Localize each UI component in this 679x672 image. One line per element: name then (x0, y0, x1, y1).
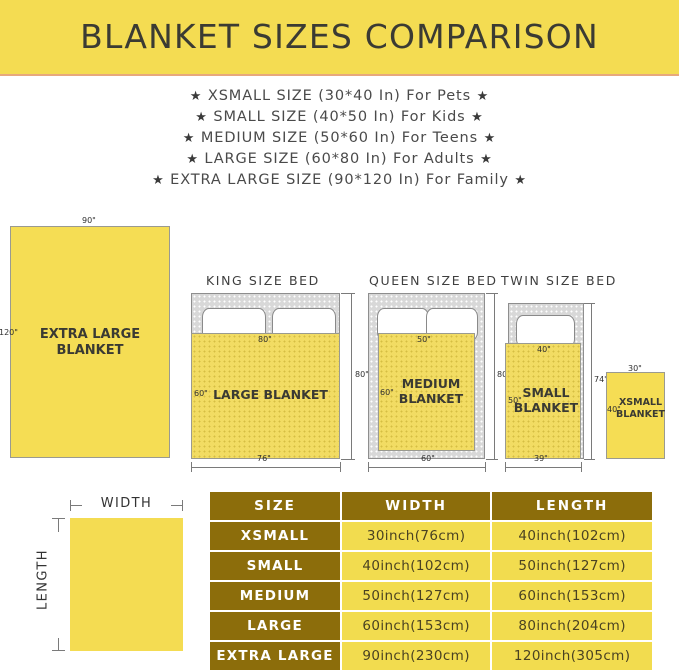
table-cell-width: 30inch(76cm) (342, 522, 490, 550)
small-blanket-label: SMALL BLANKET (511, 385, 581, 416)
king-bed-width-label: 76" (257, 454, 271, 463)
star-icon: ★ (152, 173, 165, 188)
extra-large-width-label: 90" (82, 216, 96, 225)
table-cell-size: LARGE (210, 612, 340, 640)
size-summary-item: ★ EXTRA LARGE SIZE (90*120 In) For Famil… (0, 170, 679, 191)
table-cell-size: SMALL (210, 552, 340, 580)
star-icon: ★ (183, 131, 196, 146)
table-header-length: LENGTH (492, 492, 652, 520)
table-cell-size: MEDIUM (210, 582, 340, 610)
king-length-tick-bottom (341, 459, 355, 460)
table-header-width: WIDTH (342, 492, 490, 520)
size-summary-item: ★ MEDIUM SIZE (50*60 In) For Teens ★ (0, 128, 679, 149)
legend-width-tick-left (70, 500, 71, 511)
star-icon: ★ (195, 110, 208, 125)
table-header-size: SIZE (210, 492, 340, 520)
twin-length-tick-top (584, 303, 595, 304)
queen-length-tick-bottom (486, 459, 498, 460)
size-summary-text: XSMALL SIZE (30*40 In) For Pets (208, 88, 471, 104)
size-summary-text: SMALL SIZE (40*50 In) For Kids (213, 109, 465, 125)
star-icon: ★ (477, 89, 490, 104)
table-cell-width: 60inch(153cm) (342, 612, 490, 640)
queen-bed-width-label: 60" (421, 454, 435, 463)
table-row: LARGE 60inch(153cm) 80inch(204cm) (210, 612, 652, 640)
queen-length-tick-top (486, 293, 498, 294)
table-row: SMALL 40inch(102cm) 50inch(127cm) (210, 552, 652, 580)
legend-width-label: WIDTH (70, 496, 183, 511)
table-row: MEDIUM 50inch(127cm) 60inch(153cm) (210, 582, 652, 610)
large-blanket-width-label: 80" (258, 335, 272, 344)
blanket-size-diagram: 90" 120" EXTRA LARGE BLANKET KING SIZE B… (0, 215, 679, 480)
medium-blanket-label: MEDIUM BLANKET (387, 376, 475, 407)
table-cell-length: 120inch(305cm) (492, 642, 652, 670)
table-cell-size: XSMALL (210, 522, 340, 550)
size-summary-item: ★ XSMALL SIZE (30*40 In) For Pets ★ (0, 86, 679, 107)
twin-bed-title: TWIN SIZE BED (501, 273, 617, 288)
size-summary-item: ★ LARGE SIZE (60*80 In) For Adults ★ (0, 149, 679, 170)
queen-length-dimension-line (494, 293, 495, 459)
table-row: EXTRA LARGE 90inch(230cm) 120inch(305cm) (210, 642, 652, 670)
table-cell-length: 60inch(153cm) (492, 582, 652, 610)
table-header-row: SIZE WIDTH LENGTH (210, 492, 652, 520)
king-width-dimension-line (191, 467, 340, 468)
queen-width-tick-left (368, 462, 369, 472)
legend-width-arrow-left (70, 505, 82, 506)
star-icon: ★ (484, 131, 497, 146)
king-length-dimension-line (351, 293, 352, 459)
table-cell-length: 80inch(204cm) (492, 612, 652, 640)
star-icon: ★ (514, 173, 527, 188)
table-cell-length: 50inch(127cm) (492, 552, 652, 580)
star-icon: ★ (186, 152, 199, 167)
table-cell-width: 90inch(230cm) (342, 642, 490, 670)
title-banner: BLANKET SIZES COMPARISON (0, 0, 679, 76)
queen-width-dimension-line (368, 467, 485, 468)
table-cell-width: 50inch(127cm) (342, 582, 490, 610)
legend-length-label: LENGTH (36, 537, 51, 623)
king-bed-length-label: 80" (355, 370, 369, 379)
table-row: XSMALL 30inch(76cm) 40inch(102cm) (210, 522, 652, 550)
dimension-legend: WIDTH LENGTH (22, 492, 197, 662)
extra-large-blanket-label: EXTRA LARGE BLANKET (10, 327, 170, 359)
king-width-tick-left (191, 462, 192, 472)
size-summary-text: MEDIUM SIZE (50*60 In) For Teens (201, 130, 478, 146)
legend-blanket-shape (70, 518, 183, 651)
star-icon: ★ (471, 110, 484, 125)
xsmall-blanket-label: XSMALL BLANKET (614, 397, 667, 420)
king-width-tick-right (340, 462, 341, 472)
small-blanket-width-label: 40" (537, 345, 551, 354)
legend-length-tick-bottom (52, 650, 65, 651)
legend-length-tick-top (52, 518, 65, 519)
twin-width-dimension-line (505, 467, 581, 468)
twin-bed-width-label: 39" (534, 454, 548, 463)
queen-bed-title: QUEEN SIZE BED (369, 273, 498, 288)
size-summary-text: LARGE SIZE (60*80 In) For Adults (204, 151, 474, 167)
king-length-tick-top (341, 293, 355, 294)
medium-blanket-width-label: 50" (417, 335, 431, 344)
large-blanket-label: LARGE BLANKET (201, 387, 340, 402)
size-summary-text: EXTRA LARGE SIZE (90*120 In) For Family (170, 172, 509, 188)
xsmall-width-label: 30" (628, 364, 642, 373)
star-icon: ★ (480, 152, 493, 167)
legend-length-arrow-top (58, 518, 59, 532)
table-cell-width: 40inch(102cm) (342, 552, 490, 580)
legend-width-tick-right (182, 500, 183, 511)
size-summary-item: ★ SMALL SIZE (40*50 In) For Kids ★ (0, 107, 679, 128)
table-cell-length: 40inch(102cm) (492, 522, 652, 550)
page-title: BLANKET SIZES COMPARISON (0, 0, 679, 72)
size-chart-table: SIZE WIDTH LENGTH XSMALL 30inch(76cm) 40… (208, 490, 654, 672)
queen-width-tick-right (485, 462, 486, 472)
twin-width-tick-left (505, 462, 506, 472)
table-cell-size: EXTRA LARGE (210, 642, 340, 670)
twin-length-tick-bottom (584, 459, 595, 460)
star-icon: ★ (190, 89, 203, 104)
twin-length-dimension-line (591, 303, 592, 459)
king-bed-title: KING SIZE BED (206, 273, 320, 288)
twin-width-tick-right (581, 462, 582, 472)
size-summary-list: ★ XSMALL SIZE (30*40 In) For Pets ★ ★ SM… (0, 86, 679, 191)
